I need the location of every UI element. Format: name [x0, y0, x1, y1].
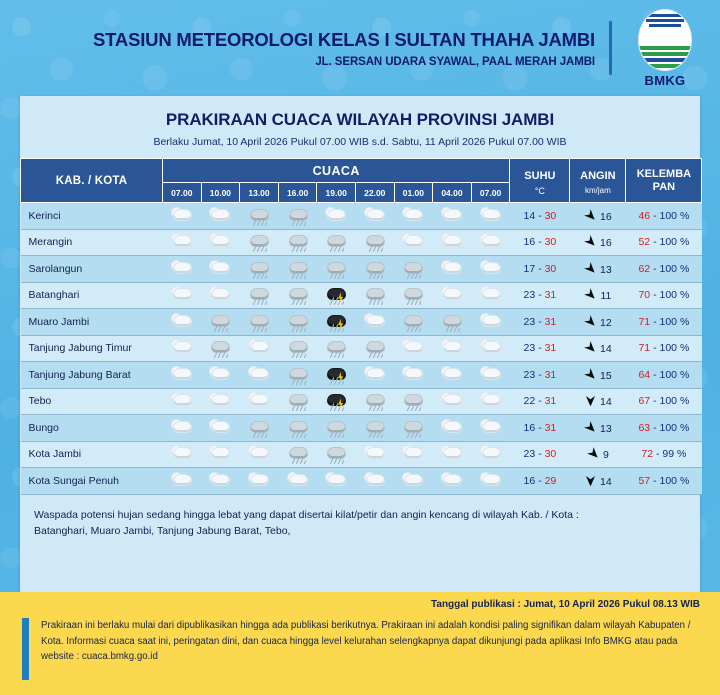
weather-cell-1 [201, 362, 240, 389]
bmkg-logo-label: BMKG [628, 73, 702, 88]
weather-cell-7 [433, 203, 472, 230]
rain-icon [400, 259, 426, 279]
humidity-unit: % [677, 263, 689, 275]
weather-cell-2 [240, 388, 279, 415]
humidity-range: 62 - 100 % [626, 256, 702, 283]
banner-divider [609, 21, 612, 75]
col-header-kelembapan: KELEMBA PAN [626, 159, 702, 203]
weather-cell-5 [355, 335, 394, 362]
hour-header-5: 22.00 [355, 183, 394, 203]
humidity-min: 64 [638, 369, 650, 381]
rain-icon [285, 259, 311, 279]
wind-arrow-up-left-icon [584, 235, 597, 248]
weather-cell-5 [355, 203, 394, 230]
temp-max: 31 [545, 316, 557, 328]
partly-cloudy-icon [207, 259, 233, 279]
wind-speed: 13 [600, 264, 612, 276]
weather-cell-4 [317, 282, 356, 309]
rain-icon [246, 312, 272, 332]
partly-cloudy-icon [478, 232, 504, 252]
temp-max: 29 [545, 475, 557, 487]
hour-header-0: 07.00 [163, 183, 202, 203]
humidity-unit: % [677, 369, 689, 381]
weather-cell-2 [240, 415, 279, 442]
temp-min: 23 [524, 289, 536, 301]
footer-accent-bar [22, 618, 29, 680]
weather-cell-8 [471, 309, 510, 336]
temp-min: 23 [524, 342, 536, 354]
weather-cell-7 [433, 256, 472, 283]
wind-speed: 14 [600, 396, 612, 408]
weather-cell-5 [355, 282, 394, 309]
temp-min: 16 [524, 422, 536, 434]
humidity-range: 67 - 100 % [626, 388, 702, 415]
humidity-separator: - [650, 263, 659, 275]
weather-cell-0 [163, 309, 202, 336]
temperature-range: 14 - 30 [510, 203, 570, 230]
partly-cloudy-icon [439, 365, 465, 385]
rain-icon [362, 418, 388, 438]
temperature-range: 22 - 31 [510, 388, 570, 415]
rain-icon [246, 206, 272, 226]
temperature-range: 16 - 31 [510, 415, 570, 442]
weather-cell-7 [433, 468, 472, 495]
footer-body: Prakiraan ini berlaku mulai dari dipubli… [0, 610, 720, 680]
humidity-max: 100 [660, 210, 678, 222]
partly-cloudy-icon [246, 444, 272, 464]
rain-icon [362, 338, 388, 358]
weather-cell-5 [355, 441, 394, 468]
page-banner: STASIUN METEOROLOGI KELAS I SULTAN THAHA… [0, 0, 720, 96]
wind-cell: 11 [570, 282, 626, 309]
partly-cloudy-icon [478, 471, 504, 491]
table-row: Kota Jambi23 - 30972 - 99 % [21, 441, 702, 468]
temp-separator: - [535, 316, 544, 328]
humidity-separator: - [650, 395, 659, 407]
wind-speed: 16 [600, 237, 612, 249]
humidity-range: 72 - 99 % [626, 441, 702, 468]
humidity-min: 72 [641, 448, 653, 460]
humidity-min: 71 [638, 342, 650, 354]
partly-cloudy-icon [285, 471, 311, 491]
table-row: Merangin16 - 301652 - 100 % [21, 229, 702, 256]
partly-cloudy-icon [362, 471, 388, 491]
wind-cell: 12 [570, 309, 626, 336]
weather-cell-5 [355, 309, 394, 336]
wind-cell: 13 [570, 256, 626, 283]
partly-cloudy-icon [400, 471, 426, 491]
weather-cell-7 [433, 388, 472, 415]
rain-icon [285, 418, 311, 438]
temp-min: 16 [524, 236, 536, 248]
wind-speed: 15 [600, 370, 612, 382]
temp-separator: - [535, 475, 544, 487]
partly-cloudy-icon [400, 365, 426, 385]
city-name: Sarolangun [21, 256, 163, 283]
weather-cell-6 [394, 388, 433, 415]
temp-min: 23 [524, 316, 536, 328]
bmkg-logo: BMKG [628, 9, 702, 88]
weather-cell-1 [201, 256, 240, 283]
temperature-range: 16 - 30 [510, 229, 570, 256]
weather-cell-5 [355, 362, 394, 389]
forecast-table: KAB. / KOTA CUACA SUHU °C ANGIN km/jam K… [20, 158, 702, 495]
humidity-max: 100 [660, 369, 678, 381]
weather-cell-2 [240, 282, 279, 309]
weather-cell-8 [471, 256, 510, 283]
weather-cell-1 [201, 388, 240, 415]
col-header-angin-unit: km/jam [570, 186, 625, 195]
humidity-max: 100 [660, 263, 678, 275]
weather-cell-1 [201, 309, 240, 336]
temperature-range: 16 - 29 [510, 468, 570, 495]
partly-cloudy-icon [439, 285, 465, 305]
humidity-unit: % [677, 422, 689, 434]
temp-separator: - [535, 448, 544, 460]
weather-cell-0 [163, 229, 202, 256]
wind-cell: 15 [570, 362, 626, 389]
partly-cloudy-icon [439, 418, 465, 438]
wind-arrow-down-icon [584, 394, 597, 407]
weather-cell-8 [471, 362, 510, 389]
station-title: STASIUN METEOROLOGI KELAS I SULTAN THAHA… [93, 29, 595, 51]
col-header-angin: ANGIN km/jam [570, 159, 626, 203]
temp-min: 22 [524, 395, 536, 407]
partly-cloudy-icon [246, 391, 272, 411]
col-header-kab-kota: KAB. / KOTA [21, 159, 163, 203]
weather-cell-8 [471, 335, 510, 362]
weather-cell-0 [163, 362, 202, 389]
partly-cloudy-icon [169, 365, 195, 385]
temperature-range: 23 - 30 [510, 441, 570, 468]
weather-cell-7 [433, 362, 472, 389]
weather-cell-5 [355, 388, 394, 415]
thunderstorm-icon [323, 365, 349, 385]
page-footer: Tanggal publikasi : Jumat, 10 April 2026… [0, 592, 720, 695]
rain-icon [400, 285, 426, 305]
wind-cell: 9 [570, 441, 626, 468]
humidity-separator: - [650, 289, 659, 301]
partly-cloudy-icon [169, 206, 195, 226]
weather-cell-8 [471, 229, 510, 256]
weather-cell-7 [433, 441, 472, 468]
partly-cloudy-icon [478, 206, 504, 226]
weather-cell-6 [394, 203, 433, 230]
weather-cell-1 [201, 282, 240, 309]
partly-cloudy-icon [400, 338, 426, 358]
city-name: Kota Sungai Penuh [21, 468, 163, 495]
temperature-range: 23 - 31 [510, 362, 570, 389]
humidity-unit: % [674, 448, 686, 460]
rain-icon [400, 391, 426, 411]
humidity-range: 63 - 100 % [626, 415, 702, 442]
temp-separator: - [535, 422, 544, 434]
humidity-min: 57 [638, 475, 650, 487]
partly-cloudy-icon [169, 391, 195, 411]
weather-cell-6 [394, 335, 433, 362]
partly-cloudy-icon [439, 206, 465, 226]
weather-cell-3 [278, 282, 317, 309]
warning-line-2: Batanghari, Muaro Jambi, Tanjung Jabung … [34, 523, 686, 539]
table-row: Tebo22 - 311467 - 100 % [21, 388, 702, 415]
temp-min: 17 [524, 263, 536, 275]
humidity-unit: % [677, 342, 689, 354]
thunderstorm-icon [323, 391, 349, 411]
rain-icon [362, 391, 388, 411]
humidity-min: 46 [638, 210, 650, 222]
weather-cell-4 [317, 203, 356, 230]
humidity-separator: - [650, 316, 659, 328]
weather-cell-5 [355, 468, 394, 495]
humidity-min: 67 [638, 395, 650, 407]
city-name: Tanjung Jabung Timur [21, 335, 163, 362]
temp-separator: - [535, 263, 544, 275]
wind-arrow-up-left-icon [584, 341, 597, 354]
hour-header-4: 19.00 [317, 183, 356, 203]
weather-cell-6 [394, 441, 433, 468]
weather-cell-0 [163, 468, 202, 495]
rain-icon [400, 312, 426, 332]
humidity-separator: - [650, 210, 659, 222]
partly-cloudy-icon [400, 444, 426, 464]
humidity-min: 71 [638, 316, 650, 328]
rain-icon [285, 338, 311, 358]
humidity-separator: - [650, 342, 659, 354]
weather-cell-1 [201, 441, 240, 468]
weather-cell-6 [394, 256, 433, 283]
humidity-range: 64 - 100 % [626, 362, 702, 389]
temp-min: 23 [524, 369, 536, 381]
partly-cloudy-icon [478, 338, 504, 358]
humidity-unit: % [677, 475, 689, 487]
weather-cell-0 [163, 335, 202, 362]
humidity-max: 100 [660, 236, 678, 248]
weather-cell-1 [201, 203, 240, 230]
forecast-table-head: KAB. / KOTA CUACA SUHU °C ANGIN km/jam K… [21, 159, 702, 203]
weather-cell-4 [317, 229, 356, 256]
col-header-angin-label: ANGIN [580, 170, 615, 182]
humidity-min: 70 [638, 289, 650, 301]
wind-arrow-up-left-icon [584, 368, 597, 381]
wind-cell: 16 [570, 229, 626, 256]
humidity-range: 71 - 100 % [626, 335, 702, 362]
partly-cloudy-icon [439, 444, 465, 464]
wind-arrow-up-left-icon [584, 315, 597, 328]
weather-cell-6 [394, 415, 433, 442]
city-name: Muaro Jambi [21, 309, 163, 336]
table-row: Tanjung Jabung Timur23 - 311471 - 100 % [21, 335, 702, 362]
humidity-range: 57 - 100 % [626, 468, 702, 495]
weather-cell-2 [240, 441, 279, 468]
wind-arrow-up-left-icon [584, 421, 597, 434]
humidity-range: 46 - 100 % [626, 203, 702, 230]
weather-cell-3 [278, 441, 317, 468]
partly-cloudy-icon [400, 232, 426, 252]
weather-cell-3 [278, 362, 317, 389]
partly-cloudy-icon [169, 232, 195, 252]
temp-separator: - [535, 210, 544, 222]
temp-max: 31 [545, 342, 557, 354]
rain-icon [285, 206, 311, 226]
partly-cloudy-icon [439, 259, 465, 279]
warning-block: Waspada potensi hujan sedang hingga leba… [20, 495, 700, 540]
temperature-range: 23 - 31 [510, 309, 570, 336]
thunderstorm-icon [323, 312, 349, 332]
weather-cell-0 [163, 415, 202, 442]
hour-header-1: 10.00 [201, 183, 240, 203]
wind-speed: 16 [600, 211, 612, 223]
col-header-suhu-unit: °C [510, 186, 569, 196]
weather-cell-0 [163, 203, 202, 230]
weather-cell-7 [433, 229, 472, 256]
partly-cloudy-icon [478, 444, 504, 464]
weather-cell-3 [278, 309, 317, 336]
weather-cell-2 [240, 362, 279, 389]
footer-disclaimer: Prakiraan ini berlaku mulai dari dipubli… [41, 618, 700, 680]
weather-cell-2 [240, 468, 279, 495]
col-header-kelembapan-line1: KELEMBA [637, 168, 691, 180]
weather-cell-7 [433, 335, 472, 362]
table-row: Batanghari23 - 311170 - 100 % [21, 282, 702, 309]
humidity-unit: % [677, 210, 689, 222]
weather-cell-2 [240, 335, 279, 362]
partly-cloudy-icon [207, 391, 233, 411]
rain-icon [246, 259, 272, 279]
humidity-unit: % [677, 289, 689, 301]
hour-header-7: 04.00 [433, 183, 472, 203]
weather-cell-3 [278, 468, 317, 495]
wind-cell: 14 [570, 468, 626, 495]
temp-max: 31 [545, 422, 557, 434]
partly-cloudy-icon [323, 206, 349, 226]
partly-cloudy-icon [478, 285, 504, 305]
hour-header-6: 01.00 [394, 183, 433, 203]
page-title: PRAKIRAAN CUACA WILAYAH PROVINSI JAMBI [20, 110, 700, 130]
weather-cell-3 [278, 335, 317, 362]
col-header-kelembapan-line2: PAN [653, 181, 675, 193]
temp-separator: - [535, 342, 544, 354]
partly-cloudy-icon [169, 312, 195, 332]
rain-icon [323, 418, 349, 438]
weather-cell-4 [317, 309, 356, 336]
weather-cell-7 [433, 309, 472, 336]
forecast-card-header: PRAKIRAAN CUACA WILAYAH PROVINSI JAMBI B… [20, 96, 700, 158]
humidity-separator: - [650, 475, 659, 487]
temp-max: 31 [545, 395, 557, 407]
wind-speed: 11 [600, 290, 611, 302]
thunderstorm-icon [323, 285, 349, 305]
bmkg-logo-icon [638, 9, 692, 71]
table-row: Sarolangun17 - 301362 - 100 % [21, 256, 702, 283]
rain-icon [246, 285, 272, 305]
rain-icon [362, 285, 388, 305]
wind-speed: 14 [600, 343, 612, 355]
humidity-range: 70 - 100 % [626, 282, 702, 309]
partly-cloudy-icon [439, 338, 465, 358]
wind-speed: 9 [603, 449, 609, 461]
partly-cloudy-icon [169, 259, 195, 279]
rain-icon [323, 232, 349, 252]
rain-icon [285, 232, 311, 252]
partly-cloudy-icon [207, 206, 233, 226]
temp-min: 14 [524, 210, 536, 222]
humidity-separator: - [650, 369, 659, 381]
humidity-min: 52 [638, 236, 650, 248]
weather-cell-4 [317, 362, 356, 389]
partly-cloudy-icon [207, 285, 233, 305]
partly-cloudy-icon [478, 312, 504, 332]
partly-cloudy-icon [362, 444, 388, 464]
humidity-max: 100 [660, 422, 678, 434]
weather-cell-8 [471, 468, 510, 495]
partly-cloudy-icon [169, 285, 195, 305]
partly-cloudy-icon [246, 365, 272, 385]
humidity-range: 71 - 100 % [626, 309, 702, 336]
table-row: Kota Sungai Penuh16 - 291457 - 100 % [21, 468, 702, 495]
weather-cell-5 [355, 229, 394, 256]
city-name: Tebo [21, 388, 163, 415]
forecast-card: PRAKIRAAN CUACA WILAYAH PROVINSI JAMBI B… [20, 96, 700, 592]
partly-cloudy-icon [400, 206, 426, 226]
city-name: Kerinci [21, 203, 163, 230]
weather-cell-5 [355, 256, 394, 283]
weather-cell-8 [471, 282, 510, 309]
weather-cell-0 [163, 388, 202, 415]
city-name: Kota Jambi [21, 441, 163, 468]
partly-cloudy-icon [362, 312, 388, 332]
wind-speed: 13 [600, 423, 612, 435]
partly-cloudy-icon [169, 444, 195, 464]
city-name: Merangin [21, 229, 163, 256]
table-row: Tanjung Jabung Barat23 - 311564 - 100 % [21, 362, 702, 389]
rain-icon [323, 338, 349, 358]
partly-cloudy-icon [439, 471, 465, 491]
humidity-unit: % [677, 395, 689, 407]
weather-cell-5 [355, 415, 394, 442]
partly-cloudy-icon [207, 365, 233, 385]
weather-cell-0 [163, 282, 202, 309]
humidity-max: 100 [660, 475, 678, 487]
weather-cell-4 [317, 256, 356, 283]
weather-cell-3 [278, 415, 317, 442]
temp-max: 30 [545, 210, 557, 222]
temp-min: 23 [524, 448, 536, 460]
city-name: Batanghari [21, 282, 163, 309]
wind-cell: 14 [570, 335, 626, 362]
wind-arrow-up-left-icon [584, 288, 597, 301]
weather-cell-4 [317, 415, 356, 442]
weather-cell-3 [278, 256, 317, 283]
banner-text-block: STASIUN METEOROLOGI KELAS I SULTAN THAHA… [93, 29, 609, 68]
temp-min: 16 [524, 475, 536, 487]
partly-cloudy-icon [478, 259, 504, 279]
humidity-max: 100 [660, 342, 678, 354]
rain-icon [323, 259, 349, 279]
weather-cell-1 [201, 335, 240, 362]
weather-cell-8 [471, 441, 510, 468]
partly-cloudy-icon [478, 365, 504, 385]
humidity-max: 99 [662, 448, 674, 460]
partly-cloudy-icon [246, 338, 272, 358]
weather-cell-4 [317, 468, 356, 495]
hour-header-3: 16.00 [278, 183, 317, 203]
partly-cloudy-icon [362, 206, 388, 226]
temperature-range: 17 - 30 [510, 256, 570, 283]
weather-cell-8 [471, 388, 510, 415]
partly-cloudy-icon [207, 232, 233, 252]
weather-cell-1 [201, 415, 240, 442]
temp-max: 31 [545, 369, 557, 381]
